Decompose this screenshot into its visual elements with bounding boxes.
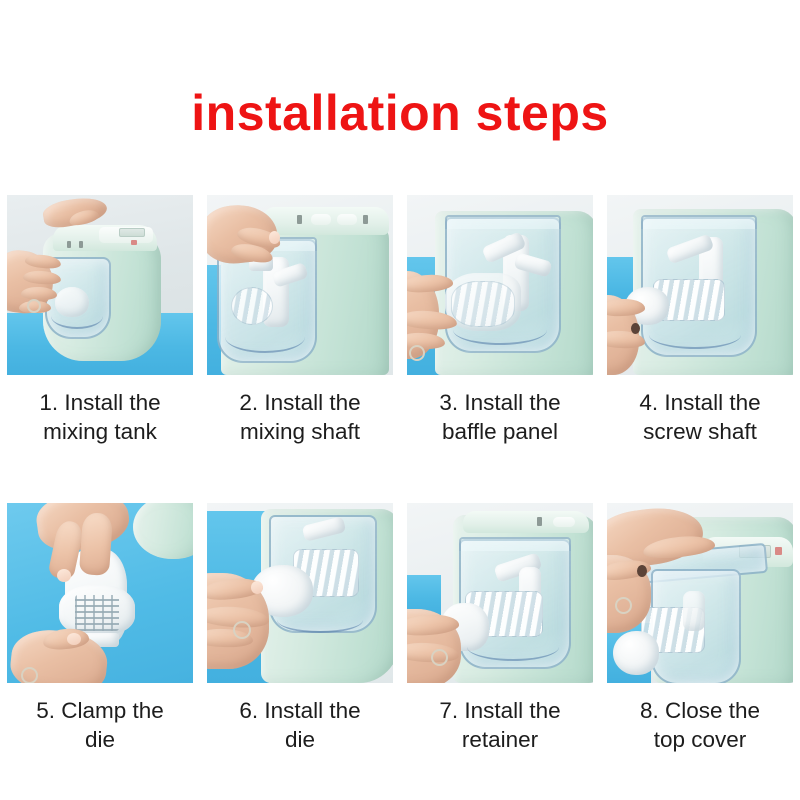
fingernail — [631, 323, 640, 334]
step-cell-3: 3. Install the baffle panel — [400, 195, 600, 446]
control-button — [537, 517, 542, 526]
finger-ring — [21, 667, 38, 683]
control-button — [297, 215, 302, 224]
pasta-die — [613, 631, 659, 675]
fingernail — [57, 569, 71, 582]
tank-rim — [445, 215, 561, 229]
screw-shaft-inside — [231, 287, 273, 325]
finger-ring — [27, 299, 41, 313]
control-button — [79, 241, 83, 248]
tank-seam — [225, 321, 305, 353]
finger-ring — [615, 597, 632, 614]
step-caption-8: 8. Close the top cover — [602, 696, 798, 754]
step-caption-4: 4. Install the screw shaft — [602, 388, 798, 446]
tank-rim — [641, 215, 757, 229]
mixing-shaft — [683, 591, 705, 631]
control-button — [363, 215, 368, 224]
step-photo-7 — [407, 503, 593, 683]
step-cell-4: 4. Install the screw shaft — [600, 195, 800, 446]
die-slot-grid — [75, 595, 119, 631]
control-panel — [553, 517, 575, 527]
step-cell-5: 5. Clamp the die — [0, 503, 200, 754]
finger-ring — [409, 345, 425, 361]
tank-seam — [467, 633, 559, 661]
control-button — [67, 241, 71, 248]
finger-ring — [233, 621, 251, 639]
fingernail — [637, 565, 647, 577]
step-caption-3: 3. Install the baffle panel — [402, 388, 598, 446]
step-cell-6: 6. Install the die — [200, 503, 400, 754]
fingernail — [67, 633, 81, 645]
tank-seam — [277, 607, 363, 633]
step-caption-6: 6. Install the die — [202, 696, 398, 754]
step-cell-8: 8. Close the top cover — [600, 503, 800, 754]
finger-ring — [431, 649, 448, 666]
page-title: installation steps — [0, 84, 800, 142]
step-photo-6 — [207, 503, 393, 683]
display-screen — [119, 228, 145, 237]
step-photo-1 — [7, 195, 193, 375]
step-caption-2: 2. Install the mixing shaft — [202, 388, 398, 446]
tank-seam — [51, 303, 103, 329]
step-photo-3 — [407, 195, 593, 375]
step-photo-2 — [207, 195, 393, 375]
step-caption-1: 1. Install the mixing tank — [2, 388, 198, 446]
control-button — [775, 547, 782, 555]
steps-row-1: 1. Install the mixing tank — [0, 195, 800, 446]
control-panel — [311, 214, 331, 225]
step-photo-5 — [7, 503, 193, 683]
installation-steps-infographic: installation steps — [0, 0, 800, 800]
step-caption-5: 5. Clamp the die — [2, 696, 198, 754]
finger — [79, 512, 113, 576]
step-photo-4 — [607, 195, 793, 375]
step-photo-8 — [607, 503, 793, 683]
step-cell-7: 7. Install the retainer — [400, 503, 600, 754]
control-panel — [337, 214, 357, 225]
control-button — [131, 240, 137, 245]
tank-rim — [459, 537, 571, 551]
tank-seam — [453, 315, 547, 345]
step-caption-7: 7. Install the retainer — [402, 696, 598, 754]
fingernail — [269, 231, 280, 244]
tank-seam — [649, 321, 741, 349]
step-cell-2: 2. Install the mixing shaft — [200, 195, 400, 446]
step-cell-1: 1. Install the mixing tank — [0, 195, 200, 446]
steps-row-2: 5. Clamp the die — [0, 503, 800, 754]
fingernail — [251, 581, 263, 594]
